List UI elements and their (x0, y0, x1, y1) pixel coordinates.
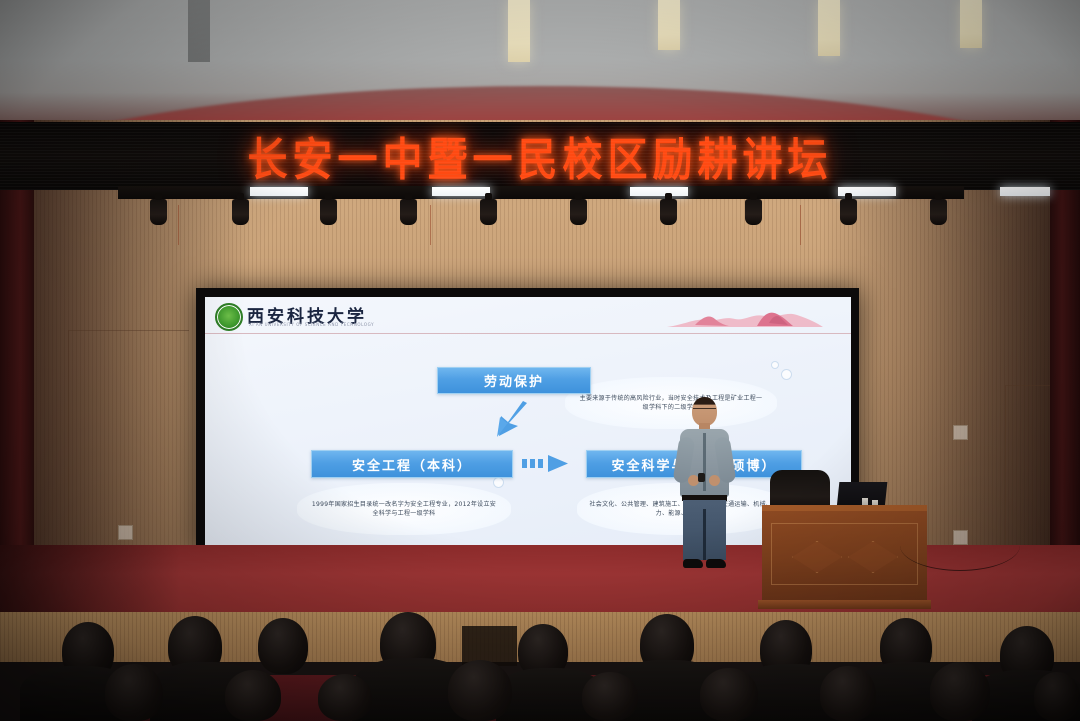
safety-wire (178, 205, 179, 245)
strip-light (432, 187, 490, 196)
stage-door-left[interactable] (68, 330, 189, 546)
spotlight (150, 199, 167, 225)
slide-body: 主要来源于传统的高风险行业，当时安全技术及工程是矿业工程一级学科下的二级学科 1… (205, 333, 851, 545)
audience-head (105, 664, 163, 721)
audience-head (700, 668, 758, 721)
audience-head (448, 660, 512, 721)
presenter-remote[interactable] (698, 473, 705, 482)
led-banner-text: 长安一中暨一民校区励耕讲坛 (248, 124, 833, 189)
spotlight (745, 199, 762, 225)
audience-head (582, 672, 638, 721)
speaker-shoe-right (706, 559, 726, 568)
callout-top-right-text: 主要来源于传统的高风险行业，当时安全技术及工程是矿业工程一级学科下的二级学科 (577, 394, 765, 413)
power-cable (900, 520, 1020, 571)
spotlight (480, 199, 497, 225)
spotlight (400, 199, 417, 225)
cloud-bubble (781, 369, 792, 380)
strip-light (250, 187, 308, 196)
mountain-landscape-icon (665, 305, 825, 331)
box-safety-engineering-undergrad: 安全工程（本科） (311, 450, 513, 478)
speaker-shoe-left (683, 559, 703, 568)
audience-head (318, 674, 372, 721)
strip-light (630, 187, 688, 196)
university-seal-icon (215, 303, 243, 331)
auditorium-photo: 长安一中暨一民校区励耕讲坛 西安科技大学 XI'AN UNIVERSITY OF… (0, 0, 1080, 721)
ceiling-light-slat (508, 0, 530, 62)
audience-head (258, 618, 308, 674)
spotlight (570, 199, 587, 225)
audience-head (225, 670, 281, 721)
ceiling-light-slat (658, 0, 680, 50)
box-labor-protection: 劳动保护 (437, 367, 591, 394)
trouser-seam (703, 509, 706, 560)
callout-top-right: 主要来源于传统的高风险行业，当时安全技术及工程是矿业工程一级学科下的二级学科 (565, 377, 777, 429)
safety-wire (800, 205, 801, 245)
callout-bottom-left-text: 1999年国家招生目录统一改名字为安全工程专业，2012年设立安全科学与工程一级… (309, 500, 499, 519)
projected-slide: 西安科技大学 XI'AN UNIVERSITY OF SCIENCE AND T… (205, 297, 851, 545)
ceiling-light-slat (188, 0, 210, 62)
spotlight (320, 199, 337, 225)
callout-bottom-left: 1999年国家招生目录统一改名字为安全工程专业，2012年设立安全科学与工程一级… (297, 483, 511, 535)
audience-head (820, 666, 876, 721)
slide-header: 西安科技大学 XI'AN UNIVERSITY OF SCIENCE AND T… (205, 297, 851, 334)
wall-switch-left[interactable] (118, 525, 133, 540)
spotlight (660, 199, 677, 225)
cloud-bubble (771, 361, 779, 369)
ceiling (0, 0, 1080, 132)
spotlight (840, 199, 857, 225)
speaker-person (672, 397, 736, 572)
ceiling-light-slat (818, 0, 840, 56)
projection-screen-frame: 西安科技大学 XI'AN UNIVERSITY OF SCIENCE AND T… (196, 288, 859, 555)
led-banner: 长安一中暨一民校区励耕讲坛 (0, 122, 1080, 190)
wall-switch-right[interactable] (953, 425, 968, 440)
audience-head (930, 662, 990, 721)
audience-area (0, 612, 1080, 721)
wall-recess (462, 626, 517, 666)
podium-panel (771, 523, 918, 585)
spotlight (930, 199, 947, 225)
safety-wire (430, 205, 431, 245)
spotlight (232, 199, 249, 225)
podium-base (758, 600, 931, 609)
audience-head (1034, 672, 1080, 721)
shirt-placket (703, 433, 706, 491)
glasses-icon (693, 408, 716, 414)
strip-light (1000, 187, 1050, 196)
ceiling-light-slat (960, 0, 982, 48)
arrow-right-icon (520, 454, 582, 472)
speaker-hand-right (709, 475, 720, 486)
arrow-down-left-icon (487, 399, 533, 441)
university-name-english: XI'AN UNIVERSITY OF SCIENCE AND TECHNOLO… (249, 322, 374, 327)
cloud-bubble (493, 477, 504, 488)
